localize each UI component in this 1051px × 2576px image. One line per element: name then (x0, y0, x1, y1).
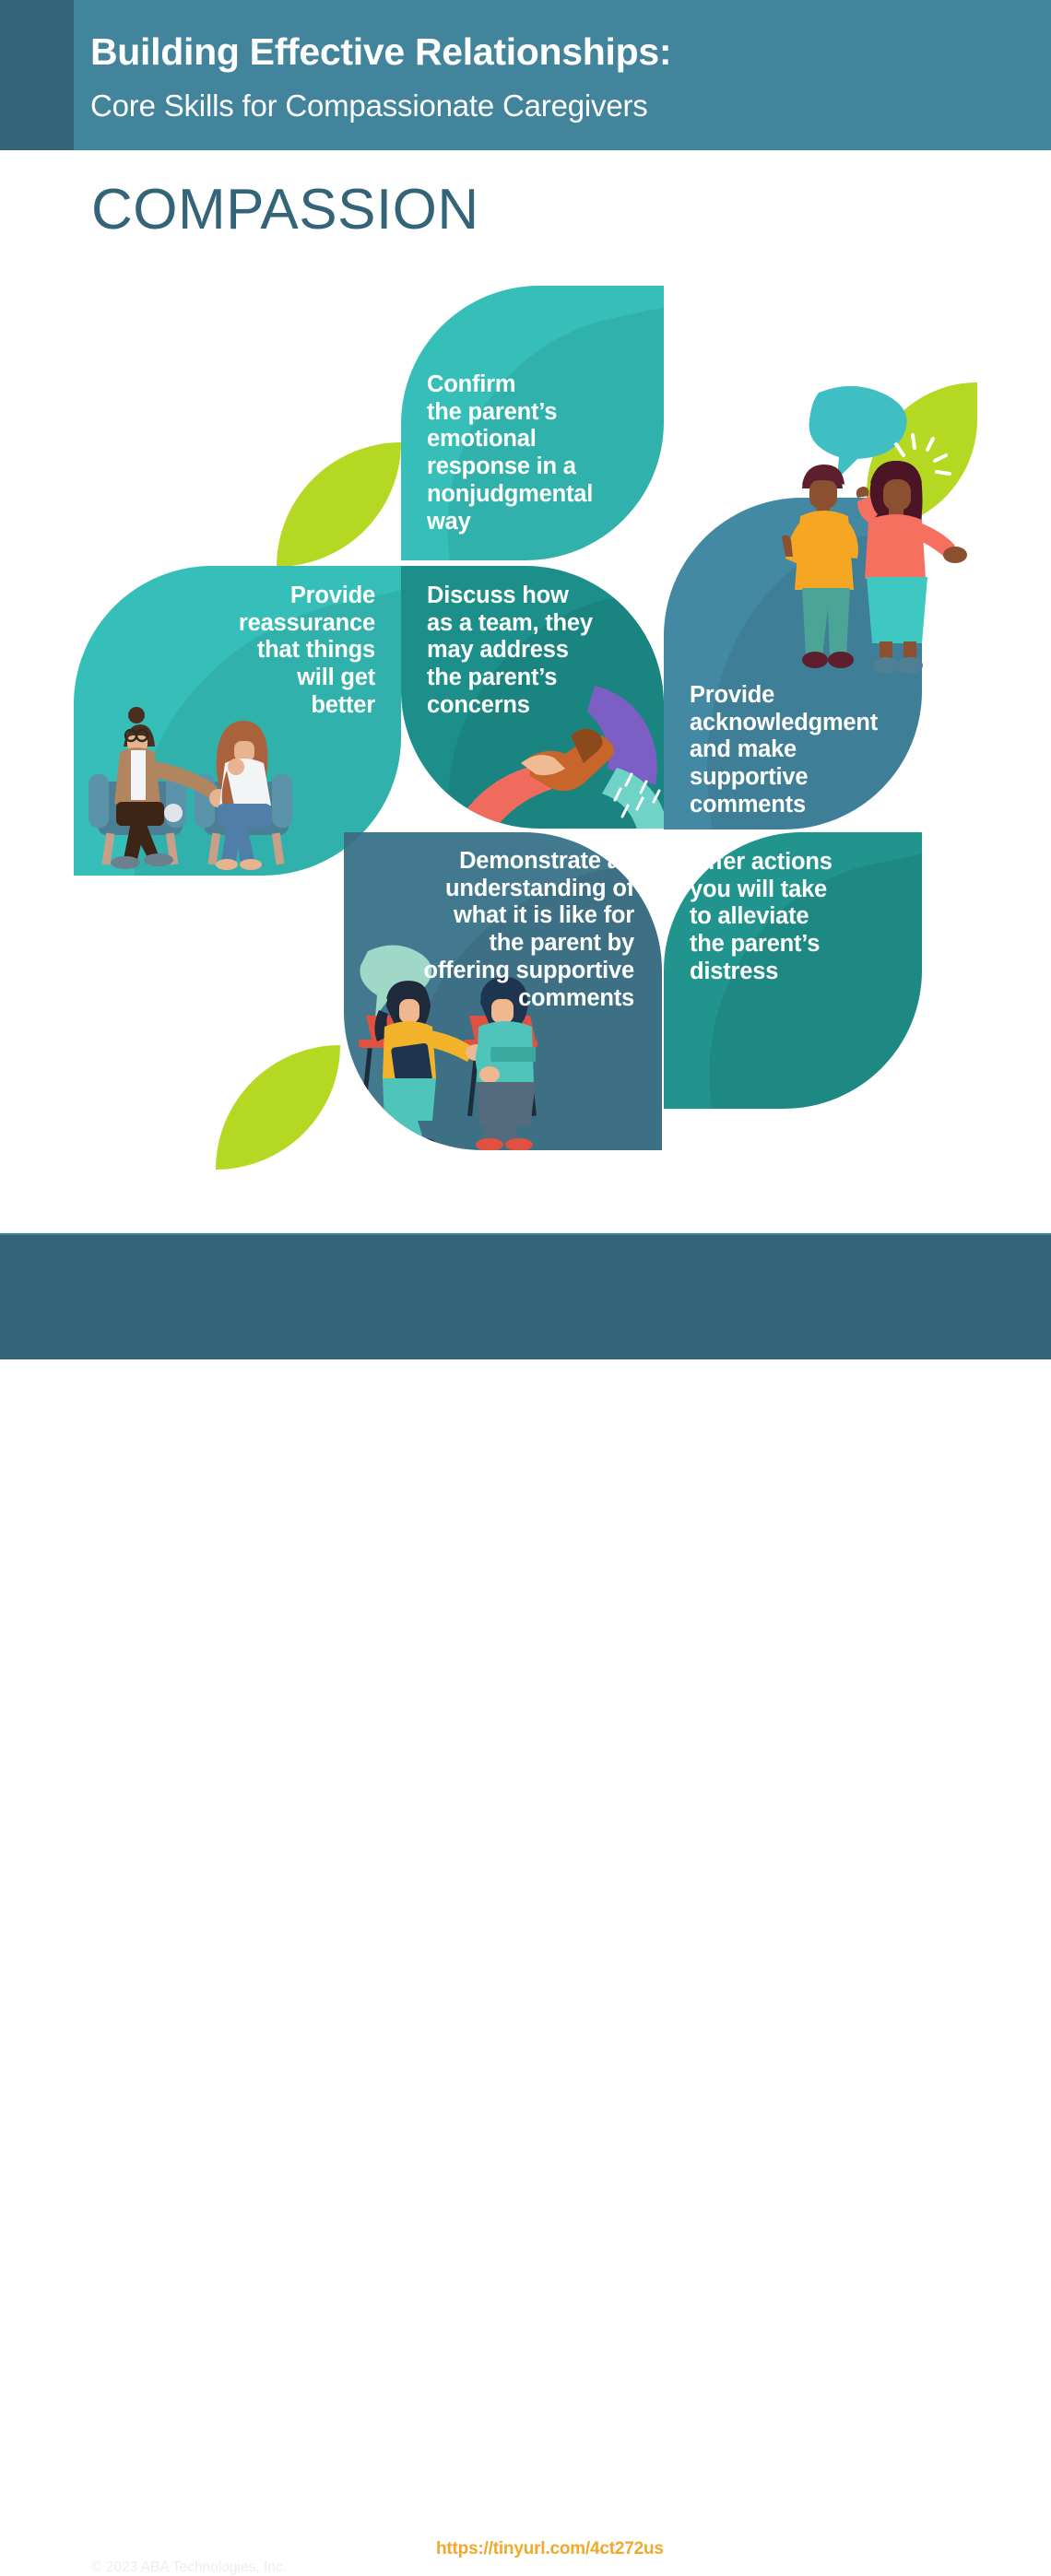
petal-offer-actions-text: Offer actions you will take to alleviate… (690, 849, 920, 986)
two-people-talking-illustration (774, 376, 968, 678)
petal-demonstrate[interactable]: Demonstrate an understanding of what it … (344, 832, 662, 1150)
accent-leaf-lower-left (216, 1045, 340, 1170)
petal-reassurance[interactable]: Provide reassurance that things will get… (74, 566, 401, 876)
cta-heading-line-2: COMPASSIONATE RELATIONSHIPS WITH CAREGIV… (436, 2516, 900, 2536)
petal-demonstrate-text: Demonstrate an understanding of what it … (348, 848, 634, 1012)
section-heading: COMPASSION (91, 177, 479, 242)
petal-reassurance-text: Provide reassurance that things will get… (108, 582, 375, 720)
cta-tinyurl-link[interactable]: https://tinyurl.com/4ct272us (436, 2539, 664, 2559)
petal-offer-actions[interactable]: Offer actions you will take to alleviate… (664, 832, 922, 1109)
page-title: Building Effective Relationships: (90, 30, 671, 74)
company-tagline: IMPROVING LIVES THROUGH THE SCIENCE OF B… (436, 2563, 763, 2576)
petal-discuss[interactable]: Discuss how as a team, they may address … (401, 566, 664, 829)
brand-trademark-symbol: ® (294, 2495, 302, 2509)
page-subtitle: Core Skills for Compassionate Caregivers (90, 88, 648, 124)
brand-name-text: ABA Technologies (91, 2493, 294, 2521)
brand-website-link[interactable]: www.abatechnologies.com (91, 2527, 321, 2548)
page-header: Building Effective Relationships: Core S… (0, 0, 1051, 150)
brand-name: ABA Technologies® (91, 2493, 302, 2522)
petal-diagram: Confirm the parent’s emotional response … (0, 267, 1051, 1207)
petal-confirm-text: Confirm the parent’s emotional response … (427, 371, 648, 535)
petal-acknowledgment-text: Provide acknowledgment and make supporti… (690, 682, 920, 819)
cta-heading-line-1: LEARN MORE ABOUT BUILDING AND SUSTAINING (436, 2492, 860, 2512)
page-footer: ABA Technologies® www.abatechnologies.co… (0, 1235, 1051, 1359)
copyright-notice: © 2023 ABA Technologies, Inc. (91, 2559, 287, 2576)
accent-leaf-upper-left (277, 442, 401, 567)
petal-confirm[interactable]: Confirm the parent’s emotional response … (401, 286, 664, 560)
petal-discuss-text: Discuss how as a team, they may address … (427, 582, 657, 720)
header-sidebar-accent (0, 0, 74, 150)
